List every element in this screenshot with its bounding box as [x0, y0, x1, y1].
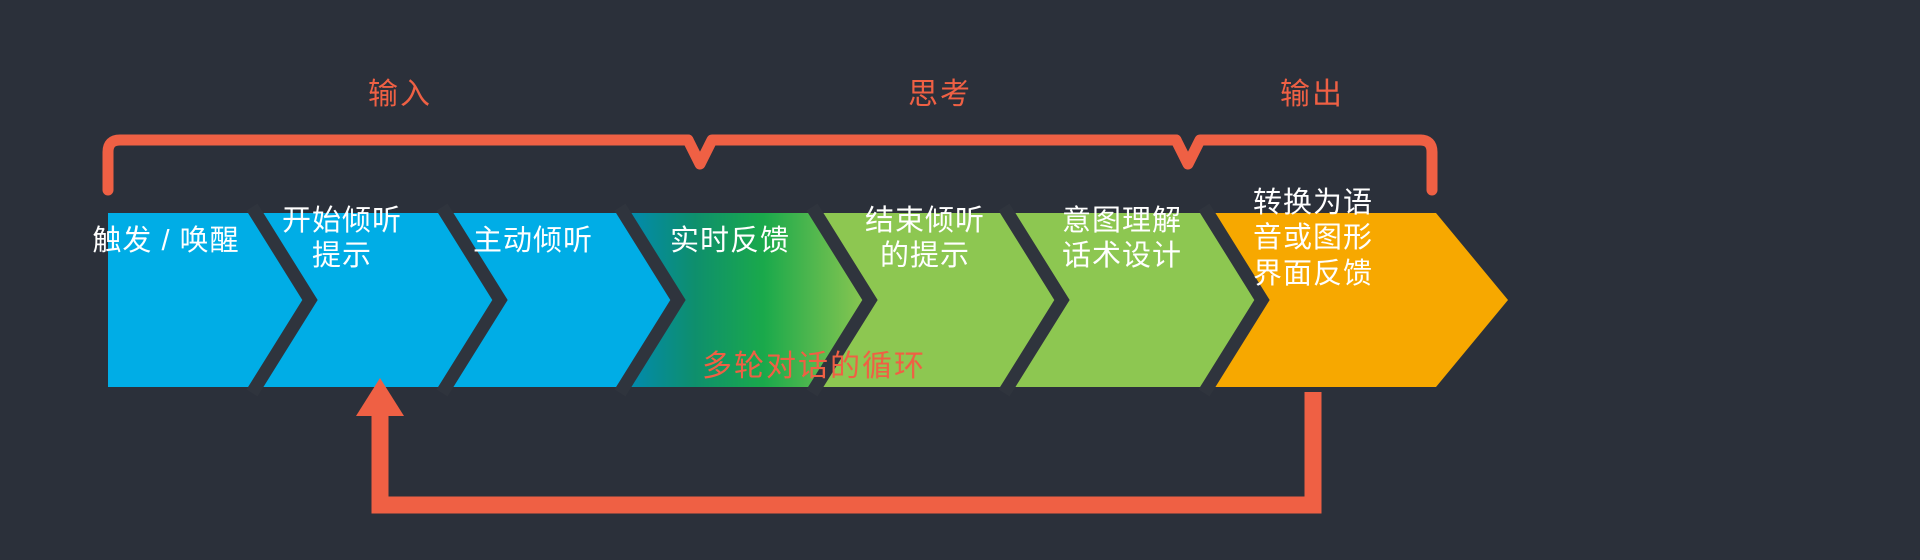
- feedback-loop-path: [380, 392, 1313, 505]
- phase-bracket: [108, 140, 1432, 190]
- feedback-loop-arrow: [356, 378, 1313, 505]
- phase-label-output: 输出: [1252, 80, 1372, 110]
- phase-bracket-right-end: [1420, 140, 1432, 190]
- flow-step-render-output[interactable]: [1240, 215, 1400, 385]
- flow-step-intent-script[interactable]: [1044, 215, 1204, 385]
- phase-bracket-tick-2: [1176, 140, 1420, 164]
- flow-step-active-listen[interactable]: [456, 215, 616, 385]
- phase-bracket-left-end: [108, 140, 688, 190]
- feedback-loop-label: 多轮对话的循环: [702, 352, 926, 382]
- phase-bracket-tick-1: [688, 140, 1176, 164]
- flow-step-start-listen-hint[interactable]: [266, 215, 430, 385]
- phase-label-think: 思考: [880, 80, 1000, 110]
- diagram-canvas: 输入 思考 输出 触发 / 唤醒 开始倾听提示 主动倾听 实时反馈 结束倾听的提…: [0, 0, 1920, 560]
- flow-step-trigger-wake[interactable]: [112, 215, 262, 385]
- phase-label-input: 输入: [340, 80, 460, 110]
